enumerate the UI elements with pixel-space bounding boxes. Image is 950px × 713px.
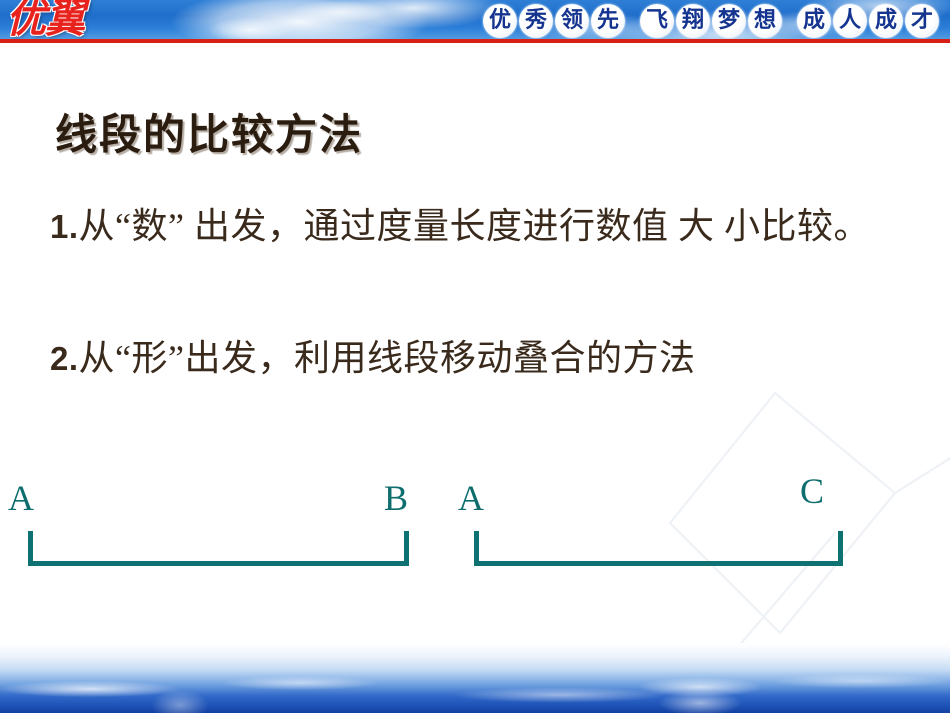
- method-paragraph-1: 1.从“数” 出发，通过度量长度进行数值 大 小比较。: [50, 201, 910, 252]
- slogan-char: 成: [797, 4, 831, 38]
- slogan-char: 才: [905, 4, 939, 38]
- brand-logo: 优翼: [6, 0, 84, 41]
- presentation-slide: 优翼 优 秀 领 先 飞 翔 梦 想 成 人 成 才: [0, 0, 950, 713]
- paragraph-number: 1.: [50, 208, 79, 245]
- page-title: 线段的比较方法: [55, 101, 363, 162]
- slogan-group-3: 成 人 成 才: [796, 4, 940, 38]
- slogan-char: 领: [555, 4, 589, 38]
- slogan-char: 成: [869, 4, 903, 38]
- slogan-char: 想: [748, 4, 782, 38]
- paragraph-text: 从“数” 出发，通过度量长度进行数值 大 小比较。: [79, 206, 870, 246]
- slogan-group-2: 飞 翔 梦 想: [639, 4, 783, 38]
- ocean-footer-graphic: [0, 643, 950, 713]
- segment-ab-bracket: [28, 531, 409, 566]
- diagonal-watermark: [660, 373, 950, 673]
- segment-ab-label-b: B: [384, 480, 408, 516]
- slogan-char: 飞: [640, 4, 674, 38]
- paragraph-text: 从“形”出发，利用线段移动叠合的方法: [79, 338, 696, 378]
- slide-content-area: 线段的比较方法 1.从“数” 出发，通过度量长度进行数值 大 小比较。 2.从“…: [0, 43, 950, 643]
- slogan-char: 优: [483, 4, 517, 38]
- segment-ab-label-a: A: [8, 480, 34, 516]
- method-paragraph-2: 2.从“形”出发，利用线段移动叠合的方法: [50, 333, 910, 384]
- slogan-char: 秀: [519, 4, 553, 38]
- wave-texture: [0, 643, 950, 713]
- slogan-char: 人: [833, 4, 867, 38]
- segment-ac-label-c: C: [800, 473, 824, 509]
- header-slogan: 优 秀 领 先 飞 翔 梦 想 成 人 成 才: [482, 2, 940, 40]
- header-red-divider: [0, 39, 950, 43]
- paragraph-number: 2.: [50, 340, 79, 377]
- slogan-char: 先: [591, 4, 625, 38]
- slogan-group-1: 优 秀 领 先: [482, 4, 626, 38]
- slogan-char: 梦: [712, 4, 746, 38]
- slogan-char: 翔: [676, 4, 710, 38]
- segment-ac-label-a: A: [458, 480, 484, 516]
- segment-ac-bracket: [474, 531, 843, 566]
